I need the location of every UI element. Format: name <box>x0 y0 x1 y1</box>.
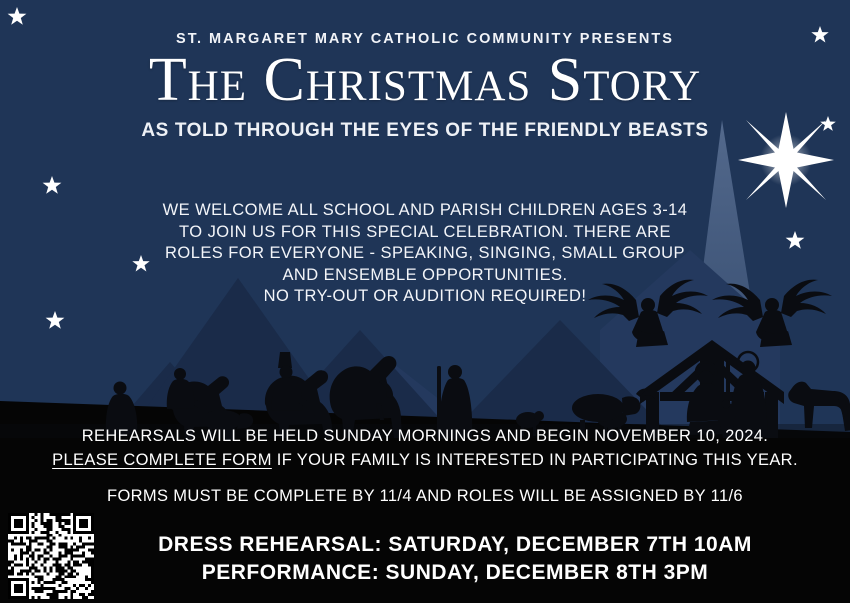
key-dates: DRESS REHEARSAL: SATURDAY, DECEMBER 7TH … <box>75 531 835 587</box>
performance-date: PERFORMANCE: SUNDAY, DECEMBER 8TH 3PM <box>75 559 835 587</box>
body-line-5: NO TRY-OUT OR AUDITION REQUIRED! <box>0 286 850 308</box>
christmas-story-poster: ST. MARGARET MARY CATHOLIC COMMUNITY PRE… <box>0 0 850 603</box>
rehearsal-line-2-rest: IF YOUR FAMILY IS INTERESTED IN PARTICIP… <box>272 451 798 469</box>
dress-rehearsal-date: DRESS REHEARSAL: SATURDAY, DECEMBER 7TH … <box>75 531 835 559</box>
page-title: The Christmas Story <box>0 48 850 113</box>
rehearsal-line-1: REHEARSALS WILL BE HELD SUNDAY MORNINGS … <box>0 425 850 449</box>
forms-deadline: FORMS MUST BE COMPLETE BY 11/4 AND ROLES… <box>0 487 850 506</box>
body-line-3: ROLES FOR EVERYONE - SPEAKING, SINGING, … <box>0 243 850 265</box>
rehearsal-line-2: PLEASE COMPLETE FORM IF YOUR FAMILY IS I… <box>0 449 850 473</box>
qr-code[interactable] <box>8 513 94 599</box>
subtitle: AS TOLD THROUGH THE EYES OF THE FRIENDLY… <box>0 120 850 142</box>
qr-code-image <box>8 513 94 599</box>
presents-line: ST. MARGARET MARY CATHOLIC COMMUNITY PRE… <box>0 31 850 47</box>
body-line-4: AND ENSEMBLE OPPORTUNITIES. <box>0 265 850 287</box>
body-copy: WE WELCOME ALL SCHOOL AND PARISH CHILDRE… <box>0 200 850 308</box>
complete-form-link[interactable]: PLEASE COMPLETE FORM <box>52 451 272 469</box>
rehearsal-info: REHEARSALS WILL BE HELD SUNDAY MORNINGS … <box>0 425 850 472</box>
body-line-1: WE WELCOME ALL SCHOOL AND PARISH CHILDRE… <box>0 200 850 222</box>
body-line-2: TO JOIN US FOR THIS SPECIAL CELEBRATION.… <box>0 222 850 244</box>
